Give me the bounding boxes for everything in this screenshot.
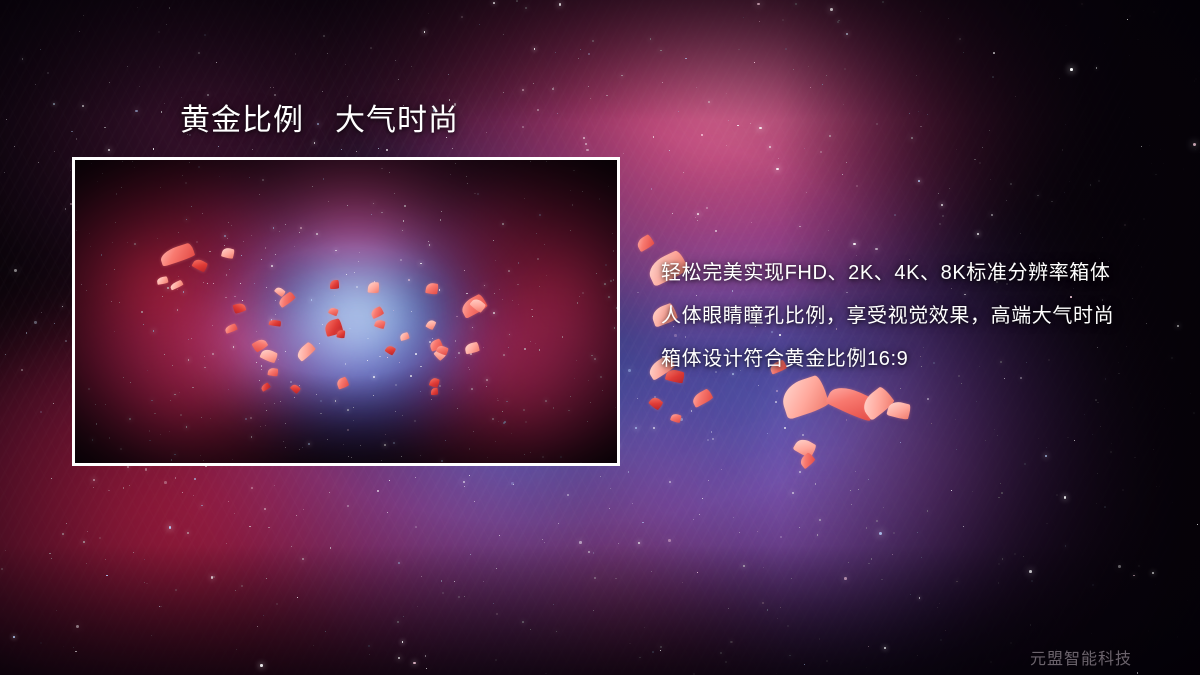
- watermark-text: 元盟智能科技: [1030, 645, 1132, 669]
- panel-image: [75, 160, 617, 463]
- slide-title: 黄金比例 大气时尚: [180, 102, 459, 140]
- body-line-2: 人体眼睛瞳孔比例，享受视觉效果，高端大气时尚: [661, 295, 1181, 338]
- petal: [425, 282, 439, 295]
- petal: [330, 280, 339, 289]
- panel-vignette: [75, 160, 617, 463]
- slide-body-text: 轻松完美实现FHD、2K、4K、8K标准分辨率箱体 人体眼睛瞳孔比例，享受视觉效…: [661, 252, 1181, 381]
- slide-canvas: 黄金比例 大气时尚 轻松完美实现FHD、2K、4K、8K标准分辨率箱体 人体眼睛…: [0, 0, 1200, 675]
- body-line-1: 轻松完美实现FHD、2K、4K、8K标准分辨率箱体: [661, 252, 1181, 295]
- body-line-3: 箱体设计符合黄金比例16:9: [661, 338, 1181, 381]
- display-panel-frame[interactable]: [72, 157, 620, 466]
- petal: [368, 282, 380, 294]
- petal: [431, 388, 438, 395]
